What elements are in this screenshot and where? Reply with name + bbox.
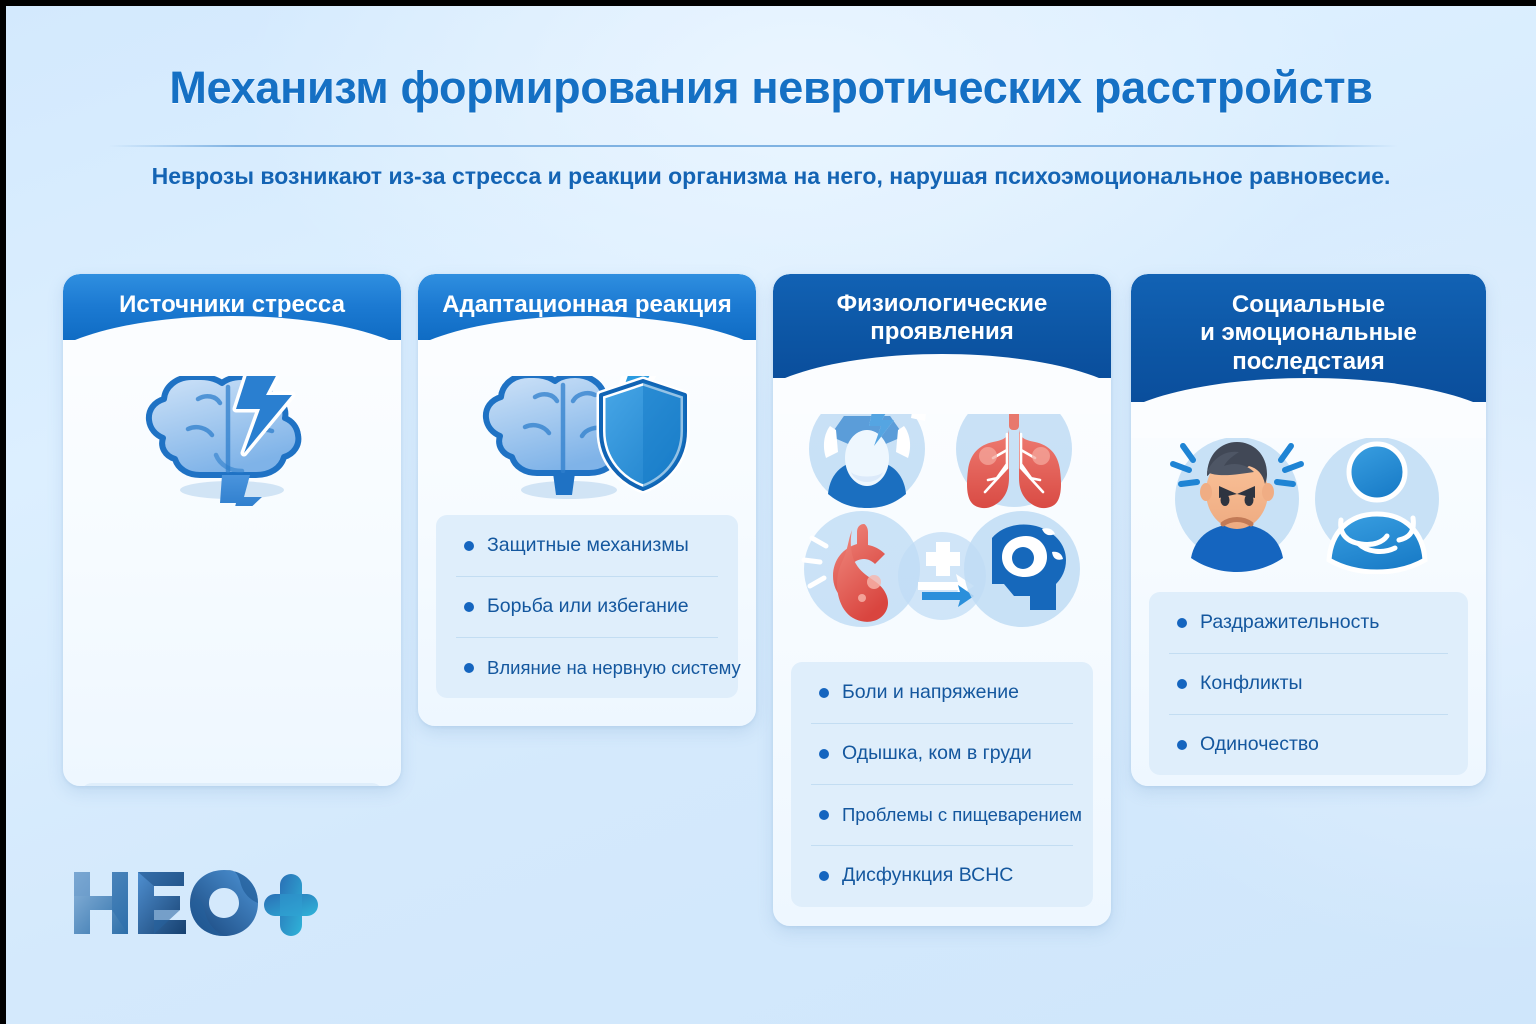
card-title-line: последстаия [1232, 348, 1385, 375]
list-item[interactable]: Одышка, ком в груди [805, 723, 1079, 784]
list-item-label: Дисфункция ВСНС [842, 864, 1013, 887]
page-title: Механизм формирования невротических расс… [6, 62, 1536, 114]
card-sources-of-stress[interactable]: Источники стресса [63, 274, 401, 786]
card-title-sources-of-stress: Источники стресса [119, 291, 345, 319]
list-item[interactable]: Боли и напряжение [805, 662, 1079, 723]
list-item-label: Проблемы с пищеварением [842, 804, 1082, 826]
list-item[interactable]: Психотравма [95, 783, 369, 786]
card-adaptive-reaction[interactable]: Адаптационная реакция [418, 274, 756, 726]
card-title-line: Физиологические [837, 290, 1048, 317]
list-item[interactable]: Одиночество [1163, 714, 1454, 775]
card-physiological-manifestations[interactable]: Физиологические проявления [773, 274, 1111, 926]
list-item[interactable]: Раздражительность [1163, 592, 1454, 653]
bullet-icon [819, 871, 829, 881]
list-item[interactable]: Конфликты [1163, 653, 1454, 714]
brand-logo[interactable] [72, 866, 332, 946]
list-item-label: Боли и напряжение [842, 681, 1019, 704]
card-header-social-emotional-consequences: Социальные и эмоциональные последстаия [1131, 274, 1486, 402]
list-panel-adaptive-reaction: Защитные механизмы Борьба или избегание … [436, 515, 738, 698]
list-item-label: Раздражительность [1200, 611, 1379, 634]
bullet-icon [819, 749, 829, 759]
social-icon-grid [1159, 424, 1459, 574]
card-header-adaptive-reaction: Адаптационная реакция [418, 274, 756, 340]
bullet-icon [1177, 740, 1187, 750]
title-divider [108, 145, 1398, 147]
bullet-icon [464, 541, 474, 551]
neo-plus-logo-icon [72, 866, 332, 946]
list-panel-physiological-manifestations: Боли и напряжение Одышка, ком в груди Пр… [791, 662, 1093, 907]
physiological-icon-grid [792, 386, 1092, 634]
card-title-line: Социальные [1232, 291, 1385, 318]
card-title-adaptive-reaction: Адаптационная реакция [442, 291, 732, 319]
list-item-label: Защитные механизмы [487, 534, 689, 557]
list-item-label: Влияние на нервную систему [487, 657, 741, 679]
card-title-physiological-manifestations: Физиологические проявления [837, 290, 1048, 347]
bullet-icon [819, 810, 829, 820]
list-item[interactable]: Дисфункция ВСНС [805, 845, 1079, 906]
infographic-root: Механизм формирования невротических расс… [0, 0, 1536, 1024]
list-item[interactable]: Борьба или избегание [450, 576, 724, 637]
bullet-icon [819, 688, 829, 698]
list-item[interactable]: Защитные механизмы [450, 515, 724, 576]
card-title-line: проявления [870, 318, 1013, 345]
bullet-icon [464, 602, 474, 612]
icon-grid-physiological [773, 386, 1111, 634]
list-item[interactable]: Проблемы с пищеварением [805, 784, 1079, 845]
card-header-sources-of-stress: Источники стресса [63, 274, 401, 340]
list-panel-social-emotional-consequences: Раздражительность Конфликты Одиночество [1149, 592, 1468, 775]
card-title-line: и эмоциональные [1200, 319, 1417, 346]
icon-grid-social [1131, 414, 1486, 584]
bullet-icon [464, 663, 474, 673]
list-item-label: Борьба или избегание [487, 595, 689, 618]
bullet-icon [1177, 618, 1187, 628]
list-item-label: Конфликты [1200, 672, 1303, 695]
list-item-label: Одышка, ком в груди [842, 742, 1032, 765]
bullet-icon [1177, 679, 1187, 689]
list-item[interactable]: Влияние на нервную систему [450, 637, 724, 698]
page-subtitle: Неврозы возникают из-за стресса и реакци… [6, 163, 1536, 190]
list-panel-sources-of-stress: Психотравма Длительное напряжение Внутре… [81, 783, 383, 786]
card-social-emotional-consequences[interactable]: Социальные и эмоциональные последстаия [1131, 274, 1486, 786]
card-header-physiological-manifestations: Физиологические проявления [773, 274, 1111, 378]
list-item-label: Одиночество [1200, 733, 1319, 756]
card-title-social-emotional-consequences: Социальные и эмоциональные последстаия [1200, 291, 1417, 376]
infographic-canvas: Механизм формирования невротических расс… [6, 6, 1536, 1024]
